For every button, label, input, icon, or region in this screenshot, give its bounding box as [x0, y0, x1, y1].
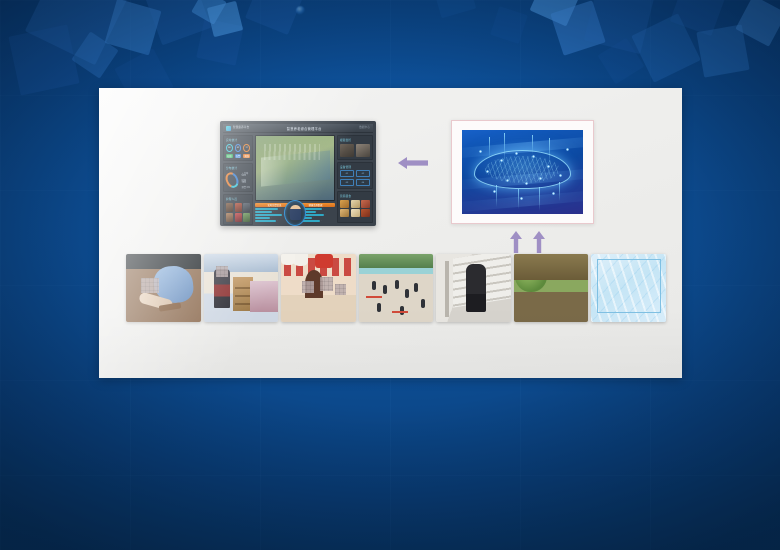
smart-care-dashboard[interactable]: 智慧康养平台 智慧养老综合管理平台 数据中心 实时统计 86 42 17	[220, 121, 376, 226]
neural-node	[500, 159, 503, 162]
donut-block[interactable]: 分布统计 入住率 92% 健康 78% 预警 6%	[223, 163, 253, 193]
brain-outline-icon	[474, 150, 571, 189]
stat-ring: 42	[235, 144, 242, 152]
donut-legend: 入住率 92% 健康 78% 预警 6%	[241, 171, 250, 189]
device-button[interactable]: 01	[340, 170, 354, 177]
decor-light-ray	[559, 182, 560, 200]
dashboard-header: 智慧康养平台 智慧养老综合管理平台 数据中心	[223, 124, 373, 133]
photo-figure	[414, 283, 418, 292]
list-item[interactable]	[204, 254, 279, 322]
status-chip: 离线	[243, 154, 250, 158]
device-button[interactable]: 04	[356, 179, 370, 186]
up-arrow-icon	[533, 231, 545, 253]
legend-item: 入住率 92%	[241, 171, 250, 177]
photo-figure	[366, 296, 382, 298]
stat-ring: 17	[243, 144, 250, 152]
avatar-figure-icon	[290, 205, 301, 220]
decor-light-streak	[462, 189, 583, 213]
left-arrow-icon	[398, 156, 428, 168]
meal-thumb[interactable]	[361, 209, 370, 217]
dashboard-brand: 智慧康养平台	[233, 127, 249, 130]
staff-thumb[interactable]	[226, 213, 233, 222]
neural-node	[506, 179, 509, 182]
photo-figure	[392, 311, 408, 313]
photo-figure	[514, 254, 589, 280]
neural-node	[525, 182, 528, 185]
list-item[interactable]	[436, 254, 511, 322]
staff-block[interactable]: 护理人员	[223, 194, 253, 225]
decor-light-ray	[518, 189, 519, 209]
content-panel: 智慧康养平台 智慧养老综合管理平台 数据中心 实时统计 86 42 17	[99, 88, 682, 378]
neural-node	[559, 174, 562, 177]
device-label: 设备管理	[340, 165, 370, 169]
photo-figure	[372, 281, 376, 290]
video-label: 视频监控	[340, 138, 370, 142]
staff-grid	[226, 203, 250, 223]
staff-thumb[interactable]	[243, 203, 250, 212]
list-item[interactable]	[591, 254, 666, 322]
decor-light-ray	[496, 185, 497, 207]
meal-thumb[interactable]	[340, 200, 349, 208]
device-button-grid: 01 02 03 04	[340, 170, 370, 186]
photo-figure	[250, 281, 278, 312]
status-chips: 在线 告警 离线	[226, 154, 250, 158]
photo-figure	[597, 259, 661, 313]
meal-thumb[interactable]	[340, 209, 349, 217]
camera-feed[interactable]	[340, 144, 354, 157]
status-chip: 在线	[226, 154, 233, 158]
dashboard-right-column: 视频监控 设备管理 01 02 03 04	[337, 135, 373, 223]
privacy-mosaic	[216, 266, 229, 277]
up-arrow-icon	[510, 231, 522, 253]
resident-avatar[interactable]	[284, 200, 306, 226]
stats-block[interactable]: 实时统计 86 42 17 在线 告警 离线	[223, 135, 253, 161]
privacy-mosaic	[141, 278, 159, 293]
meal-block[interactable]: 营养膳食	[337, 191, 373, 223]
photo-figure	[281, 254, 294, 265]
list-item[interactable]	[281, 254, 356, 322]
stats-label: 实时统计	[226, 138, 250, 142]
photo-figure	[466, 264, 485, 313]
stat-rings: 86 42 17	[226, 144, 250, 152]
staff-thumb[interactable]	[243, 213, 250, 222]
scene-photo-strip	[126, 254, 666, 324]
staff-thumb[interactable]	[235, 203, 242, 212]
photo-figure	[395, 280, 399, 289]
legend-item: 健康 78%	[241, 178, 250, 184]
staff-thumb[interactable]	[226, 203, 233, 212]
meal-thumb[interactable]	[351, 200, 360, 208]
privacy-mosaic	[320, 277, 333, 291]
dashboard-logo: 智慧康养平台	[226, 126, 249, 131]
meal-grid	[340, 200, 370, 218]
meal-thumb[interactable]	[361, 200, 370, 208]
privacy-mosaic	[335, 284, 346, 296]
donut-row: 入住率 92% 健康 78% 预警 6%	[226, 171, 250, 189]
photo-figure	[421, 299, 425, 308]
photo-figure	[383, 285, 387, 294]
meal-thumb[interactable]	[351, 209, 360, 217]
device-block[interactable]: 设备管理 01 02 03 04	[337, 162, 373, 190]
photo-figure	[405, 289, 409, 298]
list-item[interactable]	[359, 254, 434, 322]
photo-figure	[315, 254, 333, 268]
camera-grid	[340, 144, 370, 157]
meal-label: 营养膳食	[340, 194, 370, 198]
list-item[interactable]	[514, 254, 589, 322]
dashboard-left-column: 实时统计 86 42 17 在线 告警 离线 分布统计	[223, 135, 253, 223]
slide-canvas: 智慧康养平台 智慧养老综合管理平台 数据中心 实时统计 86 42 17	[0, 0, 780, 550]
photo-figure	[359, 268, 434, 275]
panel-sheen-overlay	[99, 88, 682, 378]
photo-figure	[445, 261, 449, 317]
dashboard-header-right: 数据中心	[359, 127, 370, 130]
data-tables-row: 实时告警信息 · · · · · 健康监测数据 · · · ·	[255, 203, 335, 224]
status-chip: 告警	[235, 154, 242, 158]
neural-node	[552, 192, 555, 195]
logo-mark-icon	[226, 126, 231, 131]
neural-node	[566, 148, 569, 151]
dashboard-center-column: 实时告警信息 · · · · · 健康监测数据 · · · ·	[255, 135, 335, 223]
campus-3d-view[interactable]	[255, 135, 335, 201]
dashboard-body: 实时统计 86 42 17 在线 告警 离线 分布统计	[223, 133, 373, 223]
dashboard-title: 智慧养老综合管理平台	[287, 126, 322, 131]
list-item[interactable]	[126, 254, 201, 322]
device-button[interactable]: 03	[340, 179, 354, 186]
ai-brain-frame	[451, 120, 594, 224]
donut-label: 分布统计	[226, 166, 250, 170]
legend-item: 预警 6%	[241, 185, 250, 189]
staff-label: 护理人员	[226, 197, 250, 201]
staff-thumb[interactable]	[235, 213, 242, 222]
camera-feed[interactable]	[356, 144, 370, 157]
stat-ring: 86	[226, 144, 233, 152]
decor-light-ray	[539, 187, 540, 211]
photo-figure	[377, 303, 381, 312]
privacy-mosaic	[302, 281, 314, 293]
video-block[interactable]: 视频监控	[337, 135, 373, 160]
donut-chart	[223, 170, 241, 190]
ai-brain-illustration	[462, 130, 583, 214]
photo-figure	[293, 254, 308, 266]
device-button[interactable]: 02	[356, 170, 370, 177]
